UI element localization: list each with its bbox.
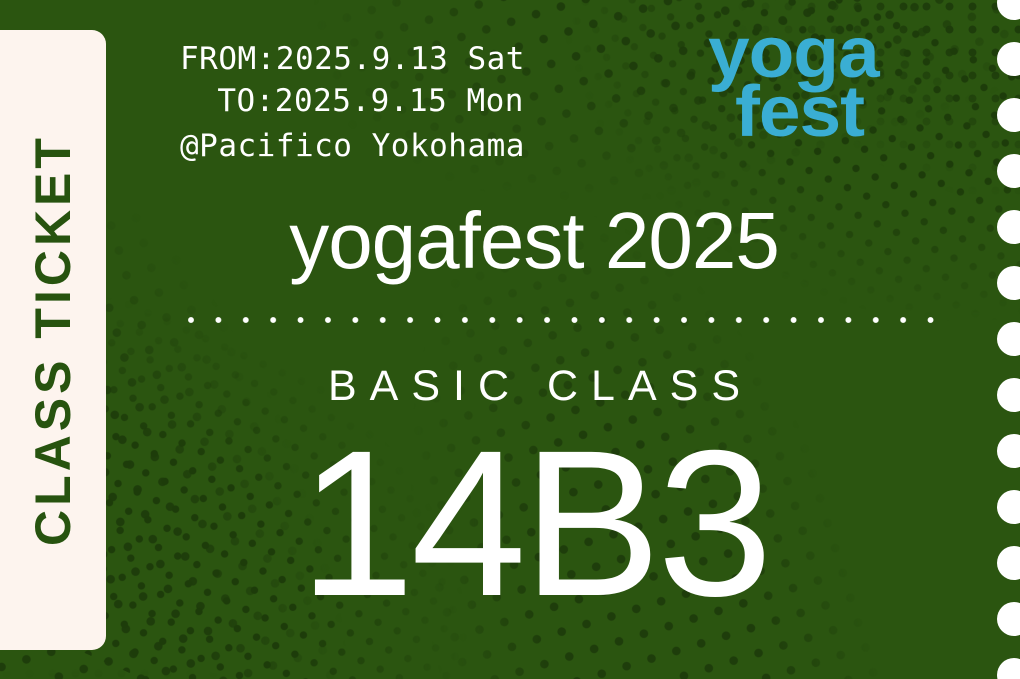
event-date-from: FROM:2025.9.13 Sat: [180, 41, 525, 77]
yogafest-brand-logo: yoga fest: [708, 24, 872, 142]
event-info-block: FROM:2025.9.13 Sat TO:2025.9.15 Mon @Pac…: [180, 38, 525, 167]
seat-code: 14B3: [106, 420, 962, 628]
stub-label: CLASS TICKET: [24, 134, 82, 546]
ticket-body: FROM:2025.9.13 Sat TO:2025.9.15 Mon @Pac…: [0, 0, 1020, 679]
event-venue: @Pacifico Yokohama: [180, 125, 525, 167]
ticket-screenshot: FROM:2025.9.13 Sat TO:2025.9.15 Mon @Pac…: [0, 0, 1020, 679]
ticket-content: FROM:2025.9.13 Sat TO:2025.9.15 Mon @Pac…: [106, 0, 1020, 679]
ticket-stub: CLASS TICKET: [0, 30, 106, 650]
event-wordmark: yogafest 2025: [106, 195, 962, 287]
event-date-to: TO:2025.9.15 Mon: [180, 83, 524, 119]
brand-logo-line-fest: fest: [708, 83, 879, 142]
class-name-label: BASIC CLASS: [106, 362, 962, 411]
dotted-divider: [188, 316, 954, 324]
